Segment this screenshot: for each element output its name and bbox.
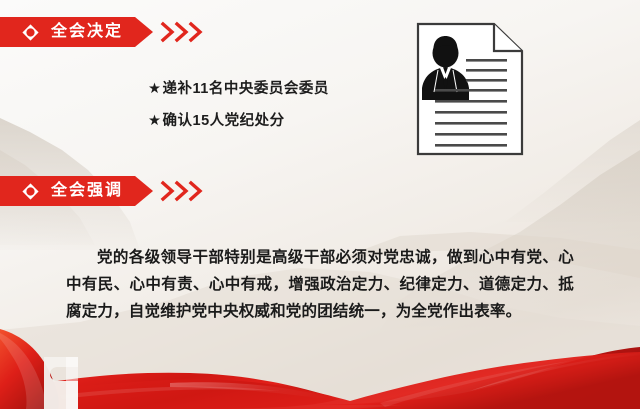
list-item: ★递补11名中央委员会委员 [148,82,329,97]
list-item-text: 递补11名中央委员会委员 [163,81,329,97]
red-silk-ribbon-decoration [0,329,640,409]
banner-decision-body: 全会决定 [0,17,153,47]
banner-emphasis-body: 全会强调 [0,176,153,206]
chevron-right-icons-emphasis [159,176,211,206]
banner-emphasis: 全会强调 [0,176,211,206]
diamond-icon [22,183,39,200]
star-icon: ★ [148,113,162,129]
star-icon: ★ [148,81,162,97]
list-item: ★确认15人党纪处分 [148,114,329,129]
poster-canvas: 全会决定 ★递补11名中央委员会委员 ★确认15人党纪处分 [0,0,640,409]
document-with-person-icon [416,22,524,156]
diamond-icon [22,24,39,41]
banner-decision-label: 全会决定 [51,24,123,40]
list-item-text: 确认15人党纪处分 [163,113,285,129]
banner-decision: 全会决定 [0,17,211,47]
emphasis-paragraph: 党的各级领导干部特别是高级干部必须对党忠诚，做到心中有党、心中有民、心中有责、心… [66,244,574,325]
chevron-right-icons-decision [159,17,211,47]
banner-emphasis-label: 全会强调 [51,183,123,199]
decision-bullet-list: ★递补11名中央委员会委员 ★确认15人党纪处分 [148,82,329,145]
